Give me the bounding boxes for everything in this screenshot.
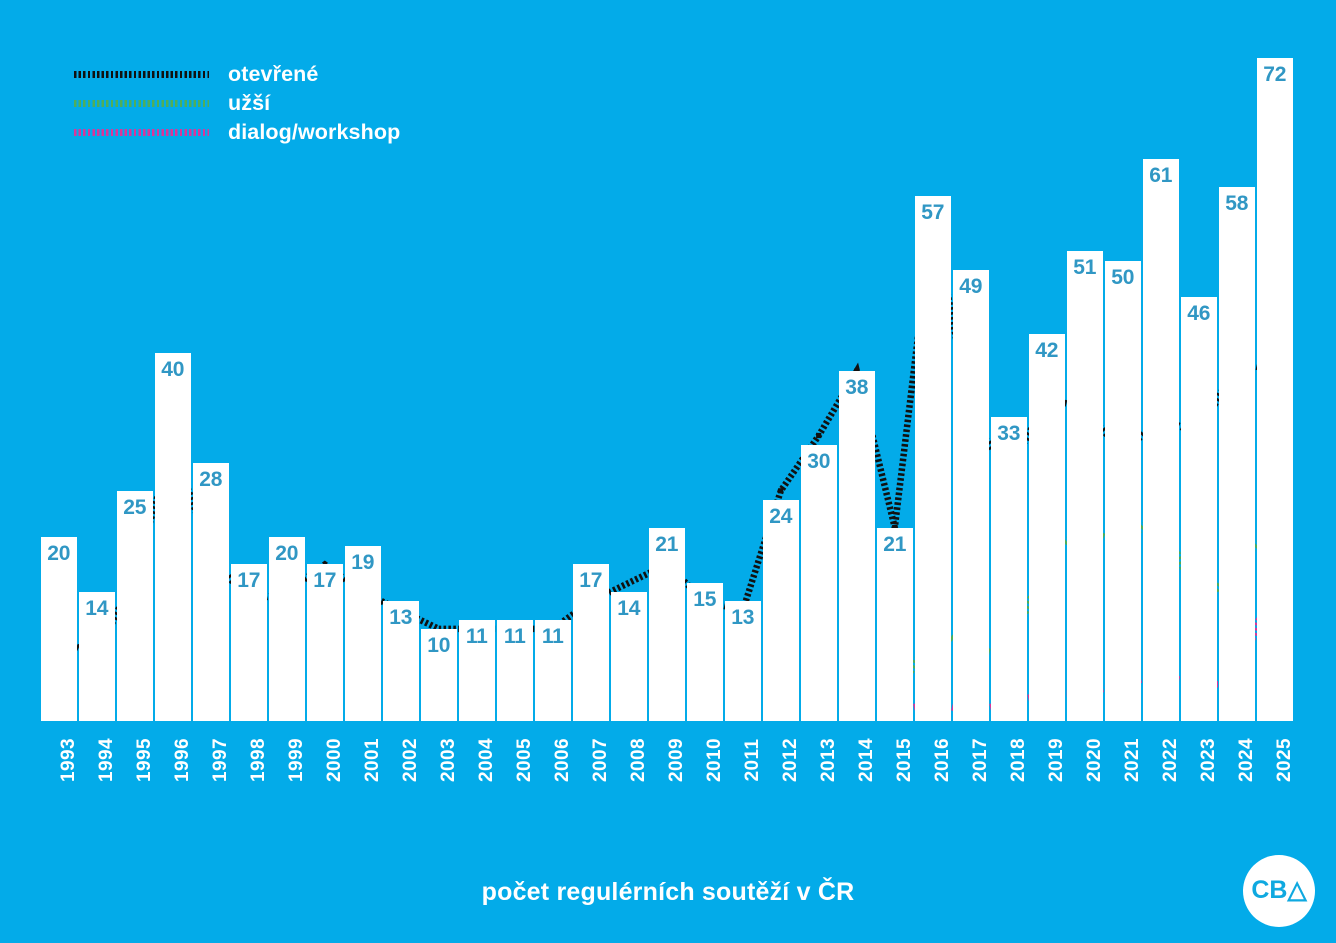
bar-2004: 11 [459,620,495,721]
bar-1997: 28 [193,463,229,721]
cba-logo-text: CB△ [1251,878,1306,905]
x-axis-tick-2006: 2006 [535,727,571,807]
bar-value-label: 11 [497,626,533,647]
bar-value-label: 38 [839,377,875,398]
x-axis-tick-label: 2015 [894,738,916,782]
bar-value-label: 57 [915,202,951,223]
x-axis-tick-2012: 2012 [763,727,799,807]
x-axis-tick-label: 2009 [666,738,688,782]
x-axis-tick-2015: 2015 [877,727,913,807]
line-vertex-marker [816,433,821,438]
x-axis-tick-2001: 2001 [345,727,381,807]
bar-2008: 14 [611,592,647,721]
bar-value-label: 40 [155,359,191,380]
bar-1999: 20 [269,537,305,721]
bar-2001: 19 [345,546,381,721]
x-axis-tick-label: 2021 [1122,738,1144,782]
bar-value-label: 72 [1257,64,1293,85]
bar-1993: 20 [41,537,77,721]
x-axis-tick-label: 1993 [58,738,80,782]
bar-value-label: 49 [953,276,989,297]
bar-value-label: 19 [345,552,381,573]
bar-value-label: 17 [307,570,343,591]
x-axis-tick-label: 2002 [400,738,422,782]
x-axis-tick-1999: 1999 [269,727,305,807]
bar-2013: 30 [801,445,837,721]
x-axis-tick-label: 2014 [856,738,878,782]
bar-2019: 42 [1029,334,1065,721]
x-axis-tick-label: 2003 [438,738,460,782]
x-axis-tick-2009: 2009 [649,727,685,807]
x-axis-tick-2021: 2021 [1105,727,1141,807]
bar-value-label: 61 [1143,165,1179,186]
bar-2006: 11 [535,620,571,721]
bar-2011: 13 [725,601,761,721]
x-axis-tick-label: 2018 [1008,738,1030,782]
x-axis-tick-label: 2007 [590,738,612,782]
bar-2017: 49 [953,270,989,721]
bar-value-label: 13 [383,607,419,628]
x-axis-tick-label: 1996 [172,738,194,782]
x-axis-tick-1993: 1993 [41,727,77,807]
chart-title: počet regulérních soutěží v ČR [0,878,1336,907]
bar-value-label: 51 [1067,257,1103,278]
bar-value-label: 20 [269,543,305,564]
cba-logo-letters: CB [1251,876,1287,904]
x-axis-tick-2002: 2002 [383,727,419,807]
bar-2024: 58 [1219,187,1255,721]
bar-value-label: 14 [79,598,115,619]
x-axis-tick-2018: 2018 [991,727,1027,807]
x-axis-tick-2016: 2016 [915,727,951,807]
cba-logo: CB△ [1243,855,1315,927]
bar-value-label: 14 [611,598,647,619]
bar-2005: 11 [497,620,533,721]
bar-1994: 14 [79,592,115,721]
bar-2002: 13 [383,601,419,721]
bar-1995: 25 [117,491,153,721]
x-axis-tick-2022: 2022 [1143,727,1179,807]
chart-plot-area: 2014254028172017191310111111171421151324… [41,58,1295,721]
bar-2014: 38 [839,371,875,721]
bar-2020: 51 [1067,251,1103,721]
x-axis-tick-2010: 2010 [687,727,723,807]
bar-2012: 24 [763,500,799,721]
bar-2000: 17 [307,564,343,721]
x-axis-tick-label: 2005 [514,738,536,782]
x-axis-tick-1998: 1998 [231,727,267,807]
x-axis-tick-label: 2017 [970,738,992,782]
chart-x-axis: 1993199419951996199719981999200020012002… [41,727,1295,807]
bar-2023: 46 [1181,297,1217,721]
x-axis-tick-1997: 1997 [193,727,229,807]
x-axis-tick-label: 1995 [134,738,156,782]
bar-2003: 10 [421,629,457,721]
bar-value-label: 46 [1181,303,1217,324]
x-axis-tick-label: 2022 [1160,738,1182,782]
x-axis-tick-2025: 2025 [1257,727,1293,807]
x-axis-tick-label: 2011 [742,739,764,782]
x-axis-tick-1994: 1994 [79,727,115,807]
bar-value-label: 11 [459,626,495,647]
bar-2010: 15 [687,583,723,721]
x-axis-tick-label: 2012 [780,738,802,782]
bar-1996: 40 [155,353,191,721]
x-axis-tick-label: 1994 [96,738,118,782]
x-axis-tick-2020: 2020 [1067,727,1103,807]
line-vertex-marker [778,488,783,493]
bar-2018: 33 [991,417,1027,721]
x-axis-tick-2000: 2000 [307,727,343,807]
x-axis-tick-label: 2001 [362,738,384,782]
bar-value-label: 13 [725,607,761,628]
x-axis-tick-1996: 1996 [155,727,191,807]
bar-2015: 21 [877,528,913,721]
x-axis-tick-label: 2016 [932,738,954,782]
bar-2016: 57 [915,196,951,721]
x-axis-tick-2023: 2023 [1181,727,1217,807]
bar-value-label: 30 [801,451,837,472]
bar-value-label: 21 [877,534,913,555]
bar-value-label: 10 [421,635,457,656]
bar-2021: 50 [1105,261,1141,721]
x-axis-tick-label: 2023 [1198,738,1220,782]
x-axis-tick-label: 2010 [704,738,726,782]
x-axis-tick-label: 1998 [248,738,270,782]
bar-value-label: 33 [991,423,1027,444]
x-axis-tick-label: 2013 [818,738,840,782]
x-axis-tick-2004: 2004 [459,727,495,807]
x-axis-tick-2011: 2011 [725,727,761,807]
bar-value-label: 58 [1219,193,1255,214]
triangle-icon: △ [1287,876,1306,904]
bar-2025: 72 [1257,58,1293,721]
x-axis-tick-2005: 2005 [497,727,533,807]
x-axis-tick-2003: 2003 [421,727,457,807]
x-axis-tick-2013: 2013 [801,727,837,807]
bar-value-label: 50 [1105,267,1141,288]
bar-value-label: 17 [231,570,267,591]
x-axis-tick-label: 1999 [286,738,308,782]
x-axis-tick-label: 2024 [1236,738,1258,782]
x-axis-tick-2014: 2014 [839,727,875,807]
bar-value-label: 42 [1029,340,1065,361]
x-axis-tick-label: 2006 [552,738,574,782]
x-axis-tick-label: 2019 [1046,738,1068,782]
bar-value-label: 11 [535,626,571,647]
bar-2022: 61 [1143,159,1179,721]
x-axis-tick-label: 2004 [476,738,498,782]
x-axis-tick-2008: 2008 [611,727,647,807]
bar-value-label: 21 [649,534,685,555]
bar-value-label: 28 [193,469,229,490]
x-axis-tick-2019: 2019 [1029,727,1065,807]
x-axis-tick-2017: 2017 [953,727,989,807]
x-axis-tick-label: 2025 [1274,738,1296,782]
x-axis-tick-2024: 2024 [1219,727,1255,807]
bar-value-label: 20 [41,543,77,564]
x-axis-tick-2007: 2007 [573,727,609,807]
x-axis-tick-label: 2020 [1084,738,1106,782]
x-axis-tick-1995: 1995 [117,727,153,807]
x-axis-tick-label: 2000 [324,738,346,782]
bar-value-label: 15 [687,589,723,610]
bar-2007: 17 [573,564,609,721]
bar-value-label: 25 [117,497,153,518]
x-axis-tick-label: 1997 [210,738,232,782]
bar-value-label: 17 [573,570,609,591]
x-axis-tick-label: 2008 [628,738,650,782]
bar-1998: 17 [231,564,267,721]
bar-value-label: 24 [763,506,799,527]
bar-2009: 21 [649,528,685,721]
